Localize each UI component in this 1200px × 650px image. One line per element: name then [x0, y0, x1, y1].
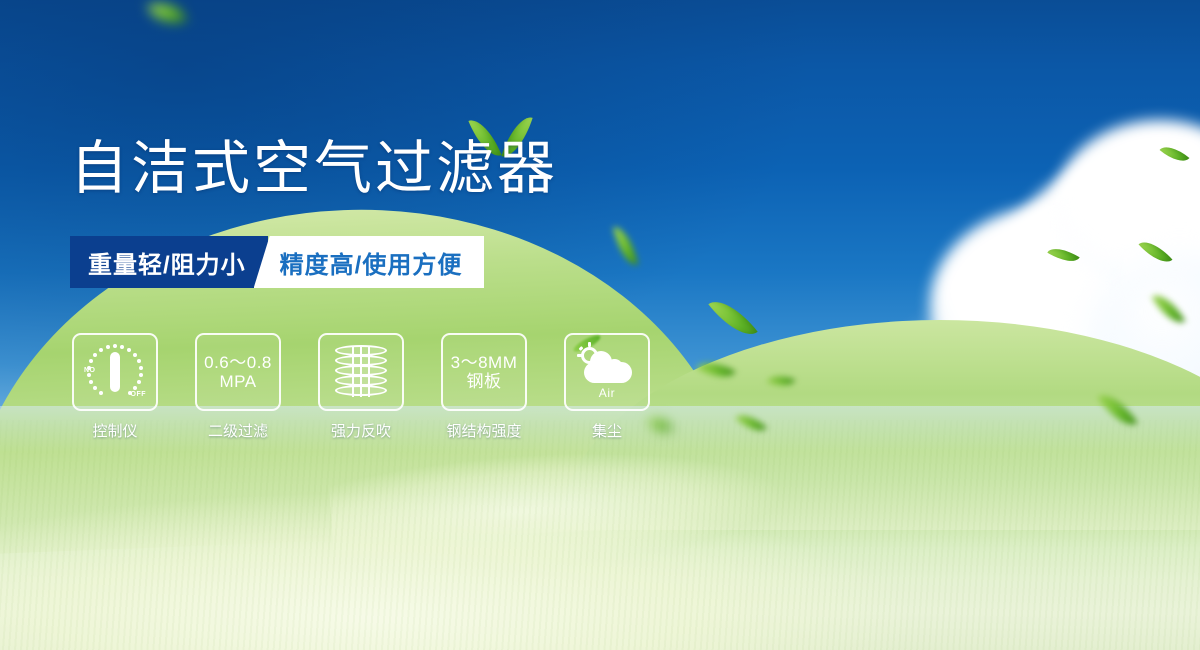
pressure-value-icon-line1: 0.6～0.8	[204, 353, 272, 372]
page-title: 自洁式空气过滤器	[70, 140, 558, 198]
feature-list: NO OFF 控制仪 0.6～0.8 MPA 二级过滤	[72, 333, 650, 441]
feature-item-pressure[interactable]: 0.6～0.8 MPA 二级过滤	[195, 333, 281, 441]
filter-cartridge-icon	[335, 344, 387, 400]
feature-item-steel[interactable]: 3～8MM 钢板 钢结构强度	[441, 333, 527, 441]
feature-item-blowback[interactable]: 强力反吹	[318, 333, 404, 441]
feature-label: 控制仪	[92, 420, 137, 441]
feature-label: 强力反吹	[331, 420, 391, 441]
feature-item-control[interactable]: NO OFF 控制仪	[72, 333, 158, 441]
feature-label: 集尘	[592, 420, 622, 441]
feature-icon-box: 0.6～0.8 MPA	[195, 333, 281, 411]
grass-field	[0, 420, 1200, 650]
tagline-left: 重量轻/阻力小	[70, 236, 268, 288]
tagline-right: 精度高/使用方便	[254, 236, 485, 288]
feature-icon-box: 3～8MM 钢板	[441, 333, 527, 411]
control-dial-icon: NO OFF	[84, 343, 146, 401]
steel-plate-icon-line2: 钢板	[467, 372, 502, 391]
grass-texture	[0, 420, 1200, 650]
air-label: Air	[599, 386, 615, 400]
feature-label: 二级过滤	[208, 420, 268, 441]
feature-icon-box: NO OFF	[72, 333, 158, 411]
dial-label-on: NO	[84, 367, 96, 374]
feature-label: 钢结构强度	[446, 420, 521, 441]
feature-item-dust[interactable]: Air 集尘	[564, 333, 650, 441]
pressure-value-icon-line2: MPA	[219, 372, 256, 391]
tagline-bar: 重量轻/阻力小 精度高/使用方便	[70, 236, 484, 288]
dial-label-off: OFF	[131, 391, 147, 398]
feature-icon-box: Air	[564, 333, 650, 411]
air-cloud-icon	[576, 345, 638, 385]
feature-icon-box	[318, 333, 404, 411]
steel-plate-icon-line1: 3～8MM	[451, 353, 518, 372]
product-banner: 自洁式空气过滤器 重量轻/阻力小 精度高/使用方便	[0, 0, 1200, 650]
